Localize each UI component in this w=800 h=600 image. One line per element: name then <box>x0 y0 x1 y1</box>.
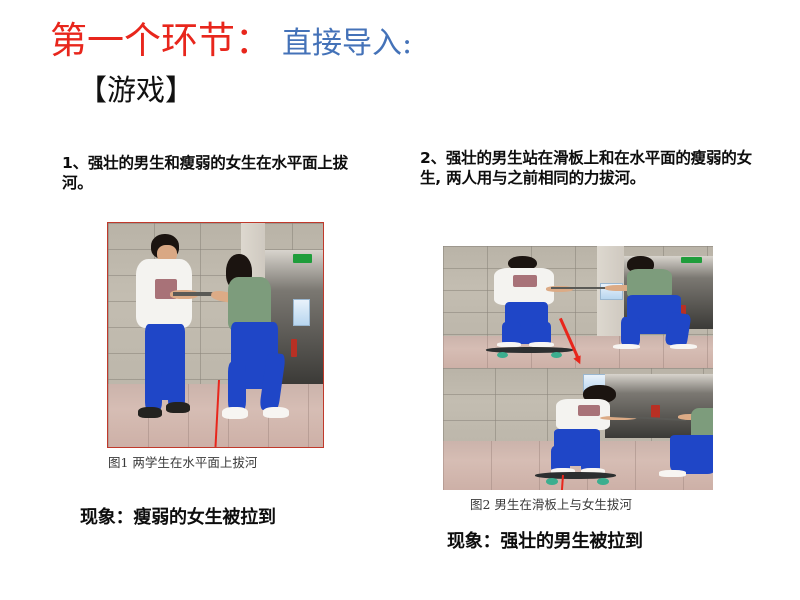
page-subtitle: 【游戏】 <box>78 76 194 105</box>
title-red-text: 第一个环节： <box>50 19 272 62</box>
girl-leg-front <box>228 362 245 411</box>
fire-extinguisher-icon <box>291 339 297 357</box>
wall-poster <box>293 299 310 326</box>
boy-leg-left <box>145 366 162 411</box>
girl-shoe-back <box>670 344 697 349</box>
title-blue-text: 直接导入: <box>282 26 412 61</box>
scene-left <box>108 223 323 447</box>
step-caption-left: 1、强壮的男生和瘦弱的女生在水平面上拔河。 <box>62 153 352 193</box>
photo-left-tugofwar <box>107 222 324 448</box>
result-left: 现象：瘦弱的女生被拉到 <box>80 503 276 529</box>
boy-shirt-graphic <box>513 275 537 287</box>
girl-shoe <box>659 470 686 476</box>
girl-leg-front <box>621 317 640 346</box>
exit-sign-icon <box>681 257 703 263</box>
step-caption-right: 2、强壮的男生站在滑板上和在水平面的瘦弱的女生, 两人用与之前相同的力拔河。 <box>420 148 765 188</box>
girl-shoe-back <box>263 407 289 418</box>
girl-shoe-front <box>222 407 248 419</box>
boy-shirt-graphic <box>578 405 600 416</box>
skateboard-wheel-left <box>546 478 558 485</box>
tug-rope <box>551 287 610 289</box>
exit-sign-icon <box>293 254 312 263</box>
page-title: 第一个环节：直接导入: <box>50 22 412 59</box>
photo-right-top-half <box>443 246 713 368</box>
skateboard-wheel-right <box>597 478 609 485</box>
girl-pants <box>670 435 713 474</box>
boy-shoe-right <box>166 402 190 413</box>
boy-shoe-left <box>138 407 162 418</box>
photo-right-skateboard <box>443 246 713 490</box>
result-right: 现象：强壮的男生被拉到 <box>447 527 643 553</box>
girl-shoe-front <box>613 344 640 349</box>
photo-right-bottom-half <box>443 368 713 490</box>
figure-label-left: 图1 两学生在水平面上拔河 <box>108 452 257 471</box>
scene-right-top <box>443 246 713 368</box>
figure-label-right: 图2 男生在滑板上与女生拔河 <box>470 494 632 513</box>
scene-right-bottom <box>443 368 713 490</box>
